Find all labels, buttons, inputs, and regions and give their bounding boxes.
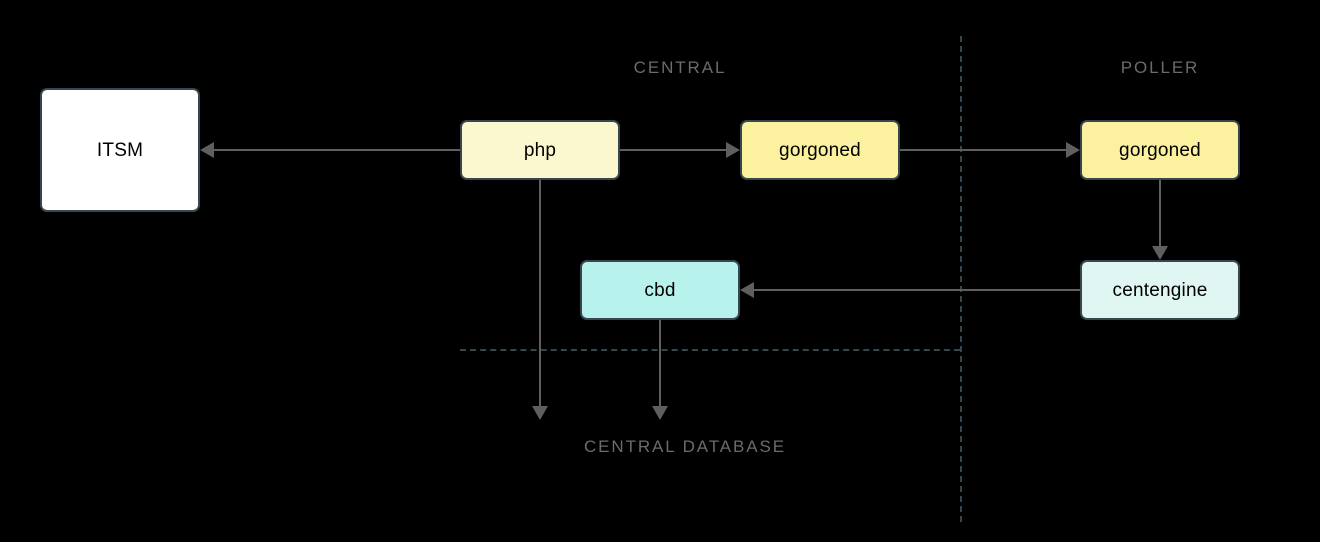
edge-cbd-to-database-arrowhead [652,406,668,420]
node-cbd-label: cbd [644,281,675,300]
edge-gorgoned-poller-to-centengine-arrowhead [1152,246,1168,260]
edge-php-to-itsm-line [214,149,460,151]
edge-gorgoned-poller-to-centengine-line [1159,180,1161,246]
node-itsm-label: ITSM [97,141,143,160]
node-gorgoned-poller-label: gorgoned [1119,141,1201,160]
edge-centengine-to-cbd-arrowhead [740,282,754,298]
edge-cbd-to-database-line [659,320,661,406]
node-php-label: php [524,141,556,160]
edge-php-to-database-arrowhead [532,406,548,420]
node-gorgoned-central-label: gorgoned [779,141,861,160]
node-itsm[interactable]: ITSM [40,88,200,212]
node-centengine[interactable]: centengine [1080,260,1240,320]
node-cbd[interactable]: cbd [580,260,740,320]
node-gorgoned-central[interactable]: gorgoned [740,120,900,180]
edge-centengine-to-cbd-line [754,289,1080,291]
node-php[interactable]: php [460,120,620,180]
edge-php-to-database-line [539,180,541,406]
edge-gorgoned-central-to-gorgoned-poller-line [900,149,1066,151]
zone-divider-vertical [960,36,962,522]
node-gorgoned-poller[interactable]: gorgoned [1080,120,1240,180]
zone-label-poller: POLLER [1080,58,1240,78]
edge-php-to-gorgoned-central-arrowhead [726,142,740,158]
node-centengine-label: centengine [1113,281,1208,300]
zone-label-central-database: CENTRAL DATABASE [540,437,830,457]
database-divider-horizontal [460,349,960,351]
zone-label-central: CENTRAL [600,58,760,78]
edge-gorgoned-central-to-gorgoned-poller-arrowhead [1066,142,1080,158]
edge-php-to-itsm-arrowhead [200,142,214,158]
diagram-canvas: CENTRAL POLLER CENTRAL DATABASE ITSM php… [0,0,1320,542]
edge-php-to-gorgoned-central-line [620,149,726,151]
